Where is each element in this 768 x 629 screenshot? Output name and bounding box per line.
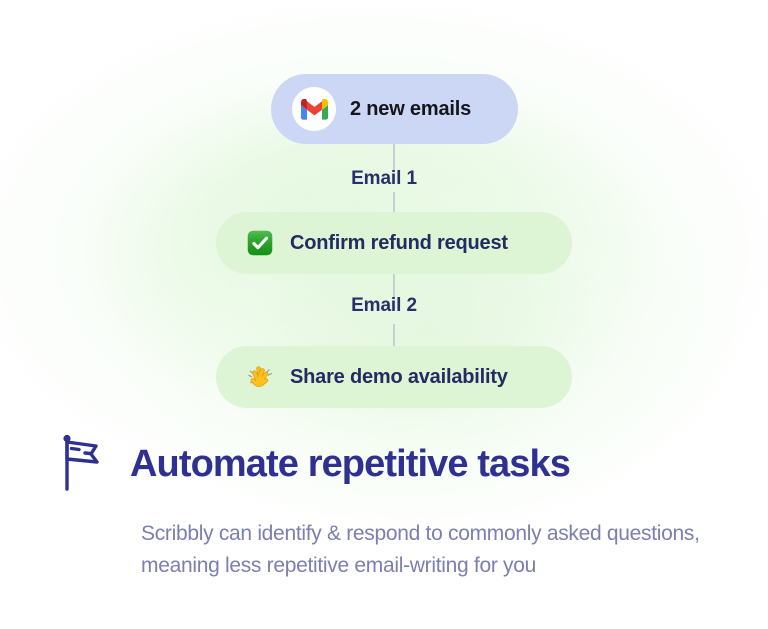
task-pill-share-demo-availability[interactable]: Share demo availability: [216, 346, 572, 408]
feature-card: 2 new emails Email 1 Conf: [0, 0, 768, 629]
title-row: Automate repetitive tasks: [0, 428, 768, 494]
white-check-mark-emoji: [245, 228, 275, 258]
connector-line-4: [393, 324, 395, 348]
new-emails-label: 2 new emails: [350, 98, 471, 121]
page-title: Automate repetitive tasks: [104, 428, 570, 483]
task-pill-confirm-refund-request[interactable]: Confirm refund request: [216, 212, 572, 274]
waving-hand-emoji: [245, 362, 275, 392]
email-automation-flow: 2 new emails Email 1 Conf: [0, 0, 768, 410]
task-label-confirm-refund-request: Confirm refund request: [290, 232, 508, 255]
connector-line-1: [393, 144, 395, 170]
task-label-share-demo-availability: Share demo availability: [290, 366, 508, 389]
step-label-email-1: Email 1: [0, 168, 768, 190]
feature-copy: Automate repetitive tasks Scribbly can i…: [0, 428, 768, 582]
page-description: Scribbly can identify & respond to commo…: [0, 494, 768, 582]
flag-icon: [58, 432, 104, 494]
new-emails-pill[interactable]: 2 new emails: [271, 74, 518, 144]
step-label-email-2: Email 2: [0, 295, 768, 317]
gmail-icon: [292, 87, 336, 131]
connector-line-2: [393, 192, 395, 214]
